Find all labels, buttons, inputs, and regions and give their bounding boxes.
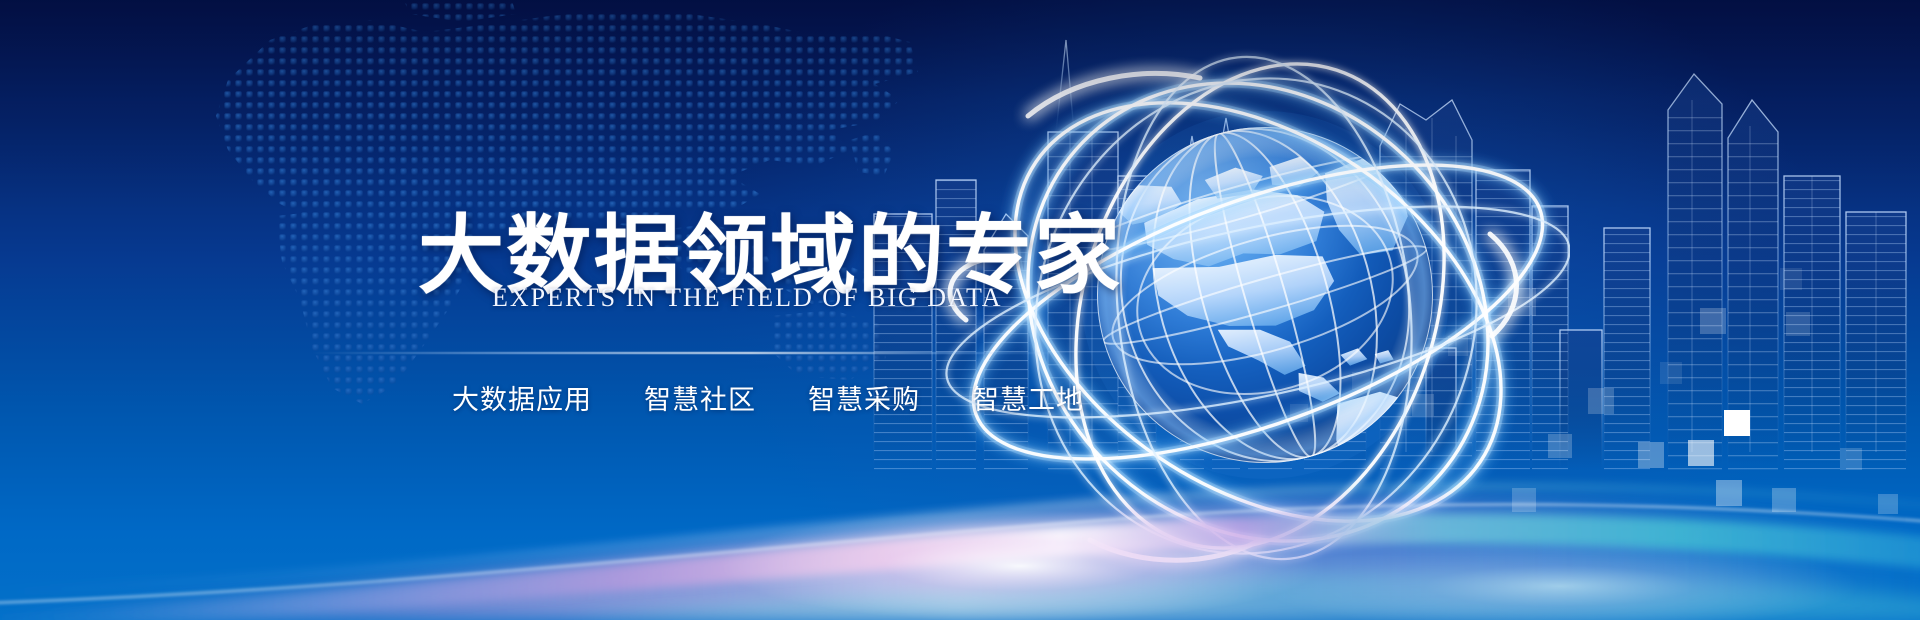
tag-list: 大数据应用 智慧社区 智慧采购 智慧工地 [452,378,1084,417]
page-subtitle: EXPERTS IN THE FIELD OF BIG DATA [492,283,1003,313]
banner-copy: 大数据领域的专家 EXPERTS IN THE FIELD OF BIG DAT… [0,0,1920,620]
tag-item-smart-construction-site[interactable]: 智慧工地 [972,378,1084,417]
tag-item-big-data-application[interactable]: 大数据应用 [452,378,592,417]
big-data-banner: 大数据领域的专家 EXPERTS IN THE FIELD OF BIG DAT… [0,0,1920,620]
tag-item-smart-community[interactable]: 智慧社区 [644,378,756,417]
headline-divider [310,352,1070,354]
tag-item-smart-procurement[interactable]: 智慧采购 [808,378,920,417]
